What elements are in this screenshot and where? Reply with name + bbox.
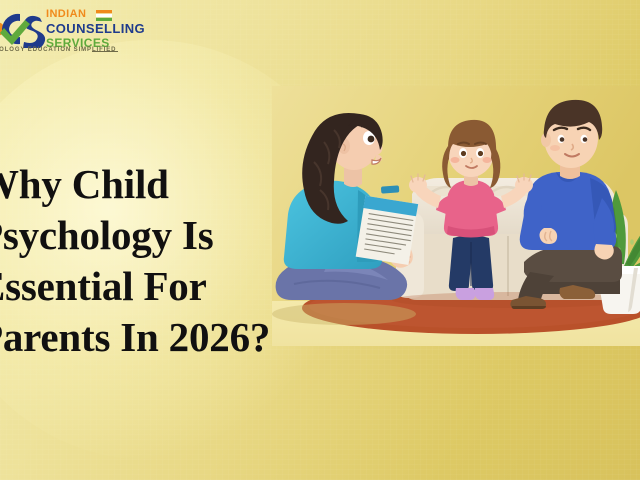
headline-line-1: Why Child <box>0 159 308 210</box>
headline-line-3: Essential For <box>0 261 308 312</box>
logo-tagline-rule <box>92 51 118 52</box>
cs-monogram-icon <box>0 8 50 48</box>
hero-banner: INDIAN COUNSELLING SERVICES PSYCHOLOGY E… <box>0 0 640 480</box>
site-logo[interactable]: INDIAN COUNSELLING SERVICES PSYCHOLOGY E… <box>0 6 160 54</box>
india-tricolor-icon <box>96 10 112 21</box>
headline-line-4: Parents In 2026? <box>0 312 308 363</box>
illustration-child-counselling <box>272 86 640 346</box>
logo-line-counselling: COUNSELLING <box>46 22 145 35</box>
headline-line-2: Psychology Is <box>0 210 308 261</box>
page-title: Why Child Psychology Is Essential For Pa… <box>0 159 308 363</box>
logo-tagline: PSYCHOLOGY EDUCATION SIMPLIFIED <box>0 47 116 53</box>
